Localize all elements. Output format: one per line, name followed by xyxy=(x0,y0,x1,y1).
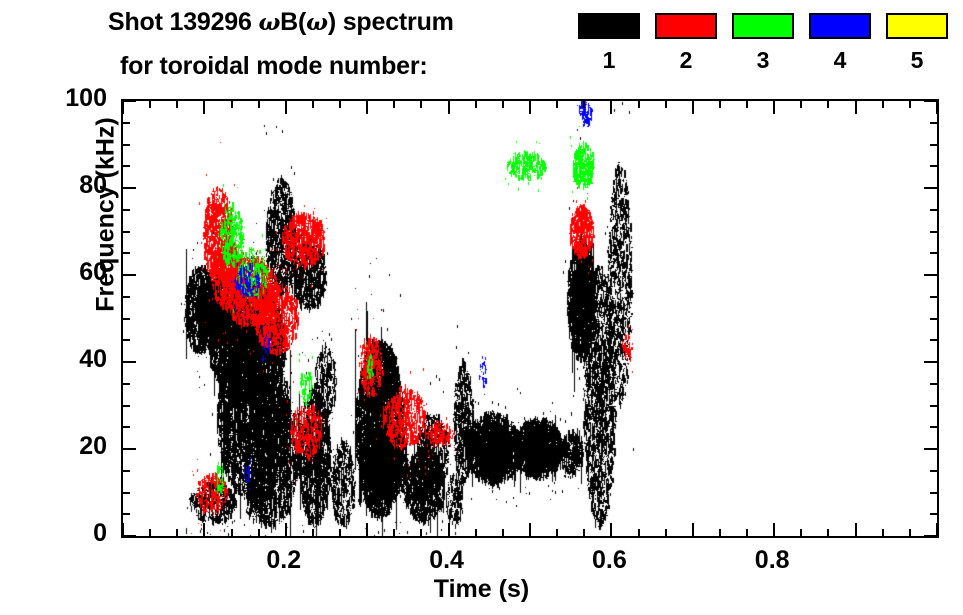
legend-swatch-2 xyxy=(655,13,717,39)
legend-item-2[interactable]: 2 xyxy=(655,13,717,72)
y-tick xyxy=(123,513,130,515)
y-tick xyxy=(123,318,130,320)
legend: 12345 xyxy=(578,13,950,88)
y-tick xyxy=(123,100,136,102)
legend-swatch-3 xyxy=(732,13,794,39)
x-tick xyxy=(366,523,368,536)
x-tick-label-0.8: 0.8 xyxy=(727,548,817,573)
x-tick xyxy=(339,529,341,536)
y-tick xyxy=(930,231,937,233)
x-tick xyxy=(692,523,694,536)
y-tick xyxy=(123,405,130,407)
x-tick xyxy=(882,529,884,536)
x-tick xyxy=(583,101,585,108)
x-tick xyxy=(638,529,640,536)
x-tick xyxy=(176,529,178,536)
x-tick-label-0.4: 0.4 xyxy=(402,548,492,573)
x-tick xyxy=(448,101,450,114)
x-tick xyxy=(638,101,640,108)
y-tick xyxy=(930,426,937,428)
x-tick xyxy=(746,101,748,108)
x-tick xyxy=(312,529,314,536)
legend-swatch-1 xyxy=(578,13,640,39)
y-tick xyxy=(930,405,937,407)
title-spectrum-text: ) spectrum xyxy=(328,8,454,36)
y-tick xyxy=(123,470,130,472)
y-tick xyxy=(123,209,130,211)
x-tick xyxy=(231,101,233,108)
x-tick xyxy=(475,101,477,108)
x-tick xyxy=(122,101,124,114)
y-tick xyxy=(930,209,937,211)
x-tick xyxy=(909,101,911,108)
x-tick xyxy=(502,529,504,536)
y-tick xyxy=(123,448,136,450)
x-tick xyxy=(746,529,748,536)
y-tick xyxy=(123,165,130,167)
y-tick xyxy=(123,361,136,363)
x-tick xyxy=(855,523,857,536)
legend-item-5[interactable]: 5 xyxy=(886,13,948,72)
legend-item-4[interactable]: 4 xyxy=(809,13,871,72)
y-tick xyxy=(930,122,937,124)
x-tick xyxy=(827,101,829,108)
y-tick xyxy=(924,187,937,189)
x-tick xyxy=(393,101,395,108)
x-tick xyxy=(692,101,694,114)
y-axis-title: Frequency (kHz) xyxy=(92,95,121,335)
x-tick xyxy=(285,523,287,536)
y-tick xyxy=(930,144,937,146)
y-tick xyxy=(930,296,937,298)
x-tick xyxy=(393,529,395,536)
x-tick xyxy=(855,101,857,114)
y-tick xyxy=(123,274,136,276)
x-tick-label-0.2: 0.2 xyxy=(239,548,329,573)
x-tick xyxy=(448,523,450,536)
x-tick xyxy=(312,101,314,108)
x-tick xyxy=(366,101,368,114)
legend-item-3[interactable]: 3 xyxy=(732,13,794,72)
y-tick xyxy=(930,339,937,341)
x-tick xyxy=(529,101,531,114)
x-tick xyxy=(610,523,612,536)
x-tick xyxy=(258,529,260,536)
x-tick xyxy=(800,529,802,536)
figure-title-line-2: for toroidal mode number: xyxy=(120,52,428,81)
title-b-text: B( xyxy=(280,8,306,36)
x-tick xyxy=(556,101,558,108)
x-tick xyxy=(610,101,612,114)
x-tick xyxy=(827,529,829,536)
omega-symbol-1: ω xyxy=(258,9,280,36)
x-tick xyxy=(285,101,287,114)
y-tick xyxy=(930,513,937,515)
title-shot-text: Shot 139296 xyxy=(108,8,258,36)
y-tick-label-20: 20 xyxy=(17,434,107,459)
x-tick xyxy=(502,101,504,108)
x-tick xyxy=(800,101,802,108)
y-tick xyxy=(930,165,937,167)
legend-label-3: 3 xyxy=(732,49,794,72)
y-tick xyxy=(123,252,130,254)
legend-swatch-5 xyxy=(886,13,948,39)
x-tick xyxy=(556,529,558,536)
y-tick xyxy=(930,252,937,254)
x-tick xyxy=(583,529,585,536)
x-tick xyxy=(719,101,721,108)
y-tick xyxy=(930,470,937,472)
x-tick xyxy=(719,529,721,536)
x-tick xyxy=(149,529,151,536)
y-tick xyxy=(123,231,130,233)
spectrogram-figure: Shot 139296 ωB(ω) spectrum for toroidal … xyxy=(0,0,963,615)
x-tick xyxy=(882,101,884,108)
y-tick xyxy=(123,187,136,189)
y-tick xyxy=(924,361,937,363)
y-tick xyxy=(924,274,937,276)
x-tick xyxy=(529,523,531,536)
x-tick xyxy=(475,529,477,536)
y-tick xyxy=(924,100,937,102)
y-tick xyxy=(123,492,130,494)
y-tick xyxy=(924,448,937,450)
y-tick xyxy=(123,144,130,146)
x-axis-title: Time (s) xyxy=(0,575,963,604)
x-tick xyxy=(203,101,205,114)
y-tick-label-0: 0 xyxy=(17,521,107,546)
y-tick xyxy=(123,122,130,124)
x-tick xyxy=(203,523,205,536)
y-tick xyxy=(123,339,130,341)
x-tick xyxy=(339,101,341,108)
y-tick xyxy=(924,535,937,537)
x-tick xyxy=(665,101,667,108)
legend-label-1: 1 xyxy=(578,49,640,72)
y-tick xyxy=(123,296,130,298)
x-tick xyxy=(936,101,938,114)
legend-label-5: 5 xyxy=(886,49,948,72)
x-tick xyxy=(231,529,233,536)
x-tick xyxy=(909,529,911,536)
omega-symbol-2: ω xyxy=(306,9,328,36)
x-tick xyxy=(258,101,260,108)
y-tick xyxy=(123,535,136,537)
y-tick-label-40: 40 xyxy=(17,347,107,372)
figure-title-line-1: Shot 139296 ωB(ω) spectrum xyxy=(108,8,454,37)
x-tick xyxy=(149,101,151,108)
y-tick xyxy=(930,318,937,320)
plot-frame xyxy=(121,99,939,538)
x-tick xyxy=(176,101,178,108)
legend-label-2: 2 xyxy=(655,49,717,72)
legend-item-1[interactable]: 1 xyxy=(578,13,640,72)
x-tick xyxy=(773,523,775,536)
y-tick xyxy=(123,383,130,385)
y-tick xyxy=(930,492,937,494)
x-tick xyxy=(773,101,775,114)
y-tick xyxy=(123,426,130,428)
x-tick-label-0.6: 0.6 xyxy=(564,548,654,573)
x-tick xyxy=(420,101,422,108)
y-tick xyxy=(930,383,937,385)
spectrogram-canvas xyxy=(123,101,937,536)
x-tick xyxy=(665,529,667,536)
x-tick xyxy=(420,529,422,536)
legend-label-4: 4 xyxy=(809,49,871,72)
legend-swatch-4 xyxy=(809,13,871,39)
